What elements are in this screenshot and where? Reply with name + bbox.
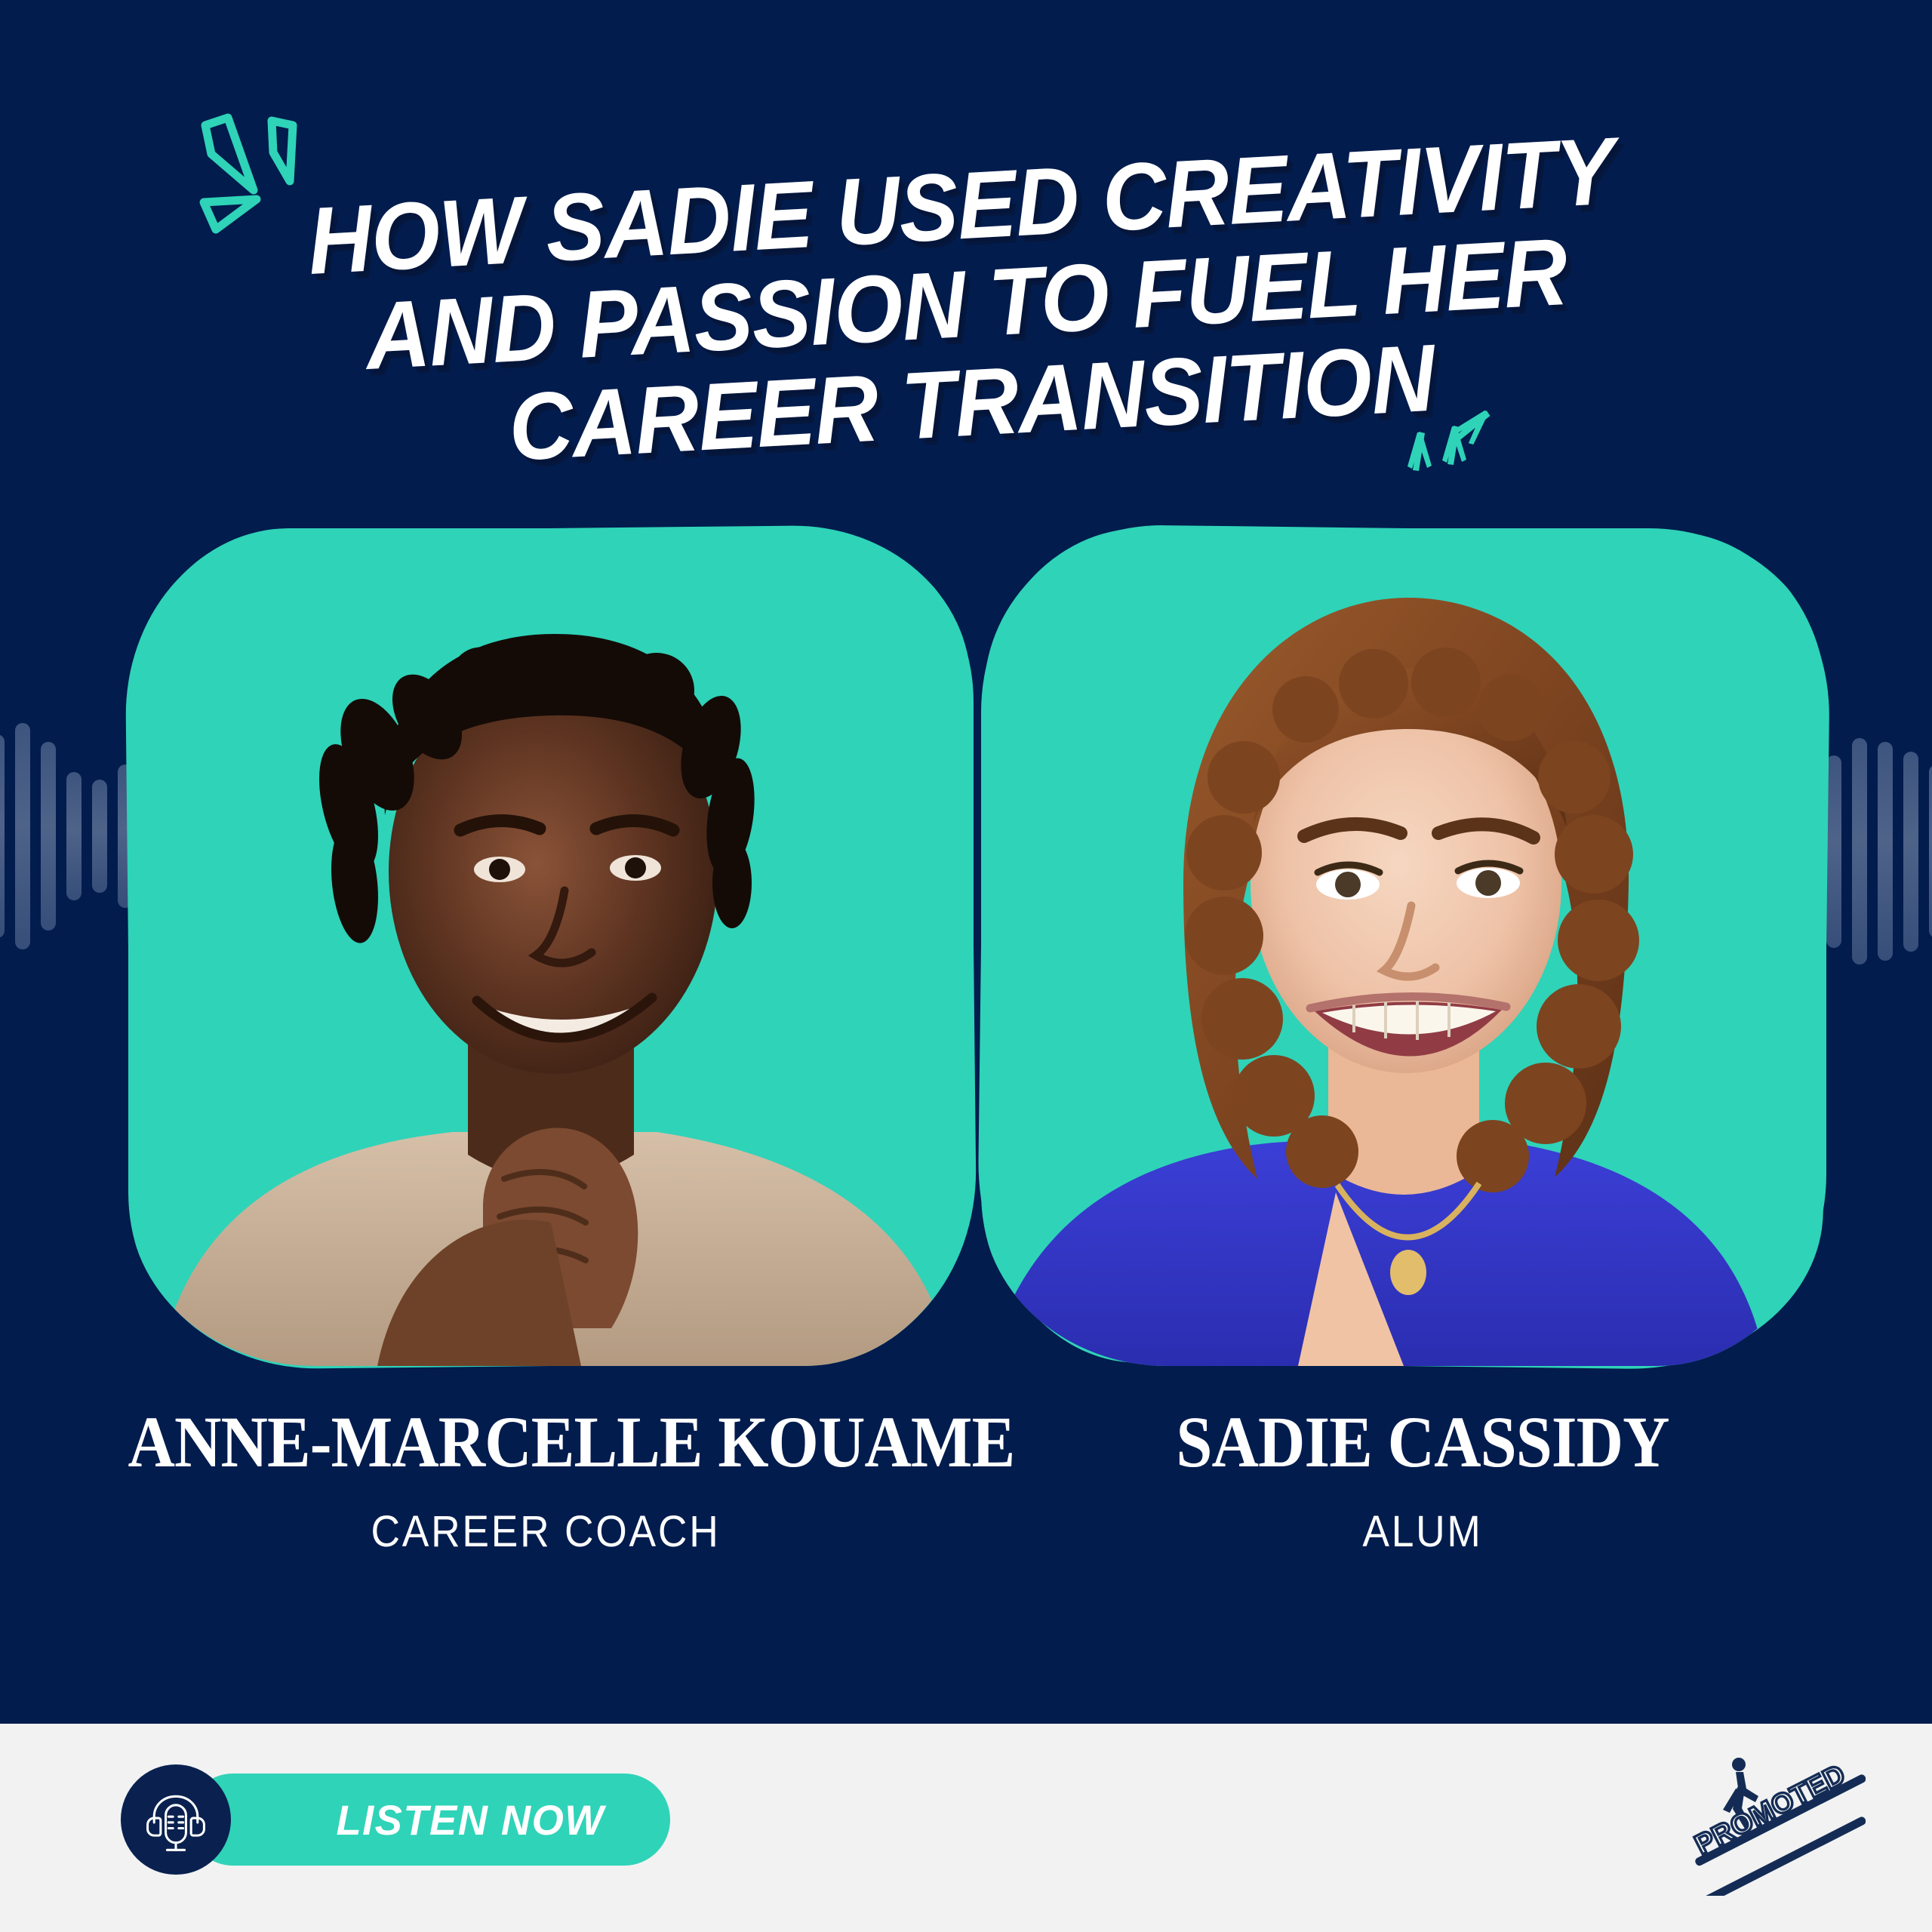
speaker-role: CAREER COACH [118,1506,973,1557]
speaker-labels: ANNE-MARCELLE KOUAME CAREER COACH SADIE … [0,1405,1932,1632]
speaker-role: ALUM [1086,1506,1759,1557]
microphone-headphones-icon[interactable] [121,1764,231,1875]
speaker-card-2 [981,528,1826,1366]
speaker-name: ANNE-MARCELLE KOUAME [128,1405,964,1479]
anne-marcelle-kouame-photo [128,528,974,1366]
speaker-photos [0,528,1932,1374]
poster-stage: HOW SADIE USED CREATIVITY AND PASSION TO… [0,0,1932,1724]
listen-now-pill[interactable]: LISTEN NOW [187,1774,670,1866]
spark-burst-icon [172,97,353,255]
three-up-arrows-icon [1396,398,1585,549]
speaker-card-1 [128,528,974,1366]
listen-now-button[interactable]: LISTEN NOW [121,1764,231,1875]
listen-now-label: LISTEN NOW [336,1795,605,1844]
promoted-wordmark: PROMOTED [1690,1758,1850,1860]
sadie-cassidy-photo [981,528,1826,1366]
speaker-label-1: ANNE-MARCELLE KOUAME CAREER COACH [82,1405,1010,1557]
speaker-label-2: SADIE CASSIDY ALUM [1057,1405,1789,1557]
podcast-promo-poster: HOW SADIE USED CREATIVITY AND PASSION TO… [0,0,1932,1932]
promoted-logo: PROMOTED [1690,1752,1866,1896]
speaker-name: SADIE CASSIDY [1094,1405,1752,1479]
